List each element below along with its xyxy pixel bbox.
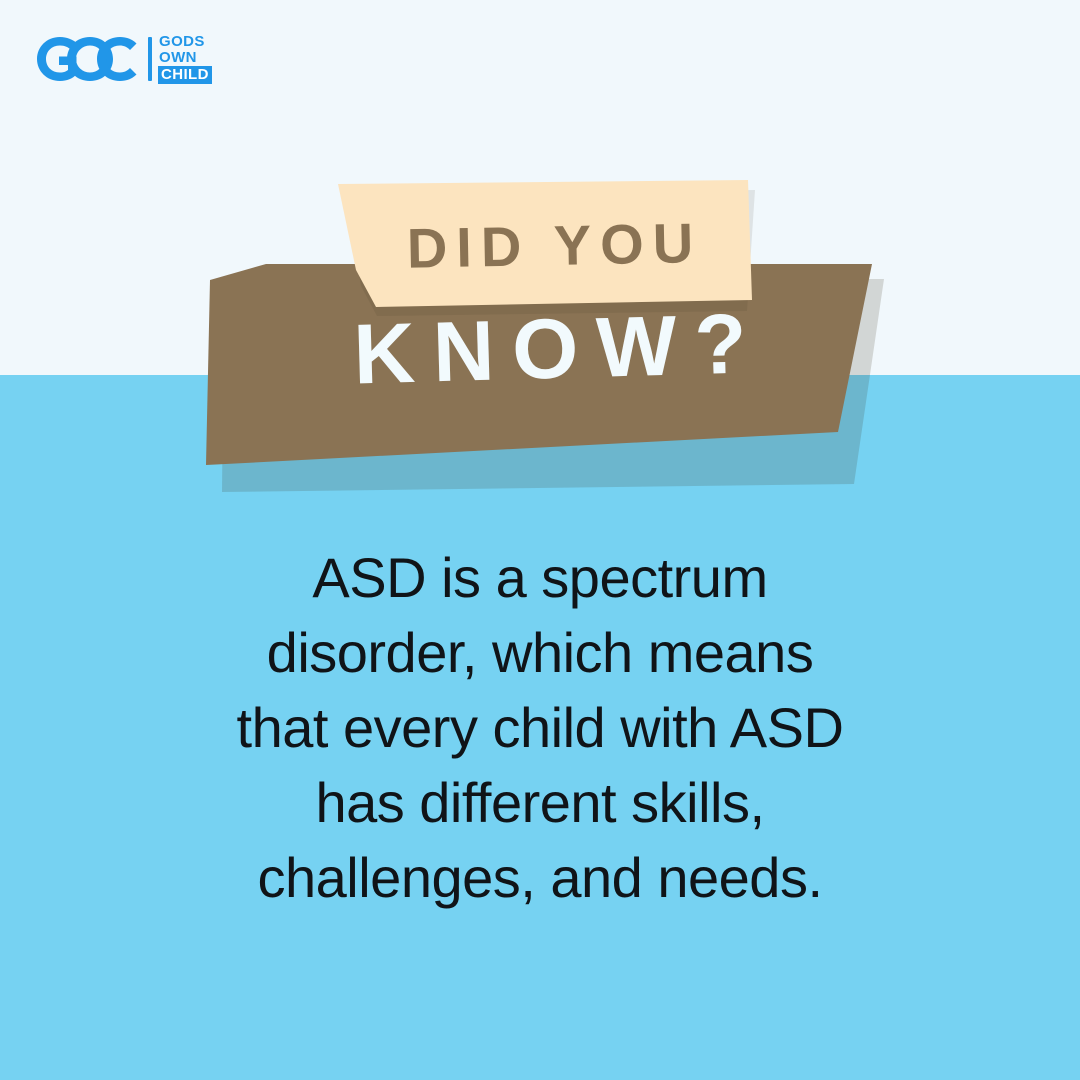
body-line-5: challenges, and needs. <box>140 840 940 915</box>
body-copy: ASD is a spectrum disorder, which means … <box>140 540 940 915</box>
logo-divider <box>148 37 152 81</box>
goc-monogram-icon <box>34 34 144 84</box>
poster-canvas: GODS OWN CHILD DID YOU KNOW? ASD is a sp… <box>0 0 1080 1080</box>
logo-word-gods: GODS <box>159 34 212 49</box>
body-line-3: that every child with ASD <box>140 690 940 765</box>
logo-word-own: OWN <box>159 50 212 65</box>
banner-shapes <box>0 160 1080 490</box>
body-line-4: has different skills, <box>140 765 940 840</box>
logo-wordmark: GODS OWN CHILD <box>159 34 212 84</box>
did-you-know-banner: DID YOU KNOW? <box>0 160 1080 490</box>
logo-word-child: CHILD <box>158 66 212 84</box>
brand-logo[interactable]: GODS OWN CHILD <box>34 30 212 88</box>
body-line-1: ASD is a spectrum <box>140 540 940 615</box>
cream-ribbon <box>338 180 752 307</box>
body-line-2: disorder, which means <box>140 615 940 690</box>
